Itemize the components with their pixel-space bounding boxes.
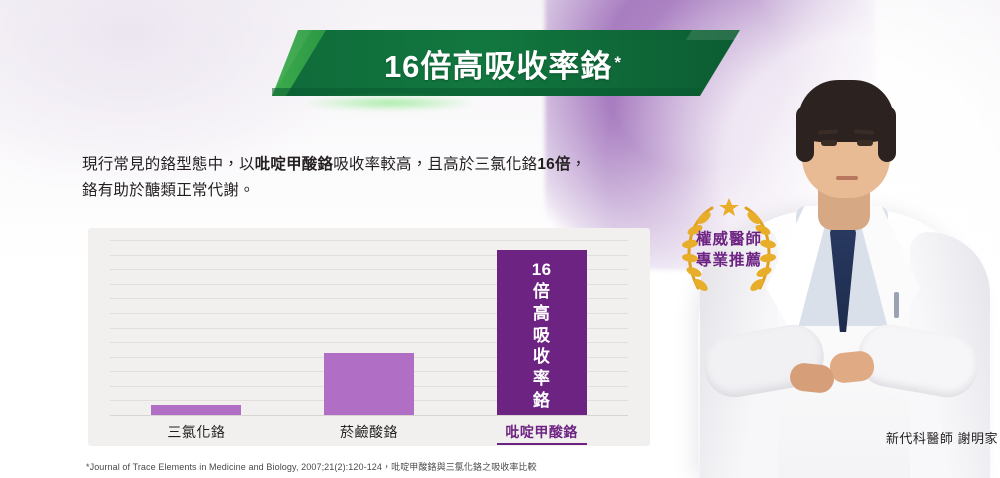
doctor-eye-left	[821, 140, 837, 146]
bar-label-char: 吸	[497, 325, 587, 347]
chart-plot-area: 16倍高吸收率鉻	[110, 240, 628, 415]
doctor-caption: 新代科醫師 謝明家	[868, 428, 998, 447]
seal-line-2: 專業推薦	[696, 251, 762, 272]
chart-bar	[151, 405, 241, 415]
doctor-eye-right	[857, 140, 873, 146]
lead-text-2: 吸收率較高，且高於三氯化鉻	[333, 156, 537, 173]
lead-text-1: 現行常見的鉻型態中，以	[82, 156, 255, 173]
bar-label-char: 率	[497, 368, 587, 390]
bar-label-char: 16	[497, 259, 587, 281]
doctor-hair-side-left	[796, 106, 814, 162]
bar-label-char: 鉻	[497, 390, 587, 412]
bar-label-char: 收	[497, 346, 587, 368]
headline-title: 16倍高吸收率鉻	[384, 41, 612, 86]
bar-label-char: 高	[497, 303, 587, 325]
headline-asterisk: *	[614, 54, 622, 73]
chart-bar: 16倍高吸收率鉻	[497, 250, 587, 415]
lead-text-3: ，	[571, 156, 587, 173]
bar-label-char: 倍	[497, 281, 587, 303]
chart-axis-line	[110, 415, 628, 416]
banner-glow	[300, 96, 480, 110]
chart-category-label: 三氯化鉻	[110, 420, 283, 444]
endorsement-seal: 權威醫師 專業推薦	[668, 196, 790, 306]
chart-bar-value-label: 16倍高吸收率鉻	[497, 250, 587, 411]
chart-category-label: 吡啶甲酸鉻	[455, 420, 628, 444]
chart-category-labels: 三氯化鉻菸鹼酸鉻吡啶甲酸鉻	[110, 420, 628, 444]
pen-icon	[894, 292, 899, 318]
seal-text: 權威醫師 專業推薦	[668, 196, 790, 306]
chart-category-label: 菸鹼酸鉻	[283, 420, 456, 444]
chart-footnote: *Journal of Trace Elements in Medicine a…	[86, 460, 706, 473]
absorption-bar-chart: 16倍高吸收率鉻 三氯化鉻菸鹼酸鉻吡啶甲酸鉻	[88, 228, 650, 446]
seal-line-1: 權威醫師	[696, 230, 762, 251]
chart-bar	[324, 353, 414, 415]
doctor-hair-side-right	[878, 106, 896, 162]
lead-bold-compound: 吡啶甲酸鉻	[255, 156, 334, 173]
lead-text-4: 鉻有助於醣類正常代謝。	[82, 182, 255, 199]
lead-bold-multiplier: 16倍	[537, 156, 570, 173]
doctor-mouth	[836, 176, 858, 180]
lead-paragraph: 現行常見的鉻型態中，以吡啶甲酸鉻吸收率較高，且高於三氯化鉻16倍， 鉻有助於醣類…	[82, 152, 682, 203]
chart-bars: 16倍高吸收率鉻	[110, 240, 628, 415]
chart-category-underline	[497, 443, 587, 445]
